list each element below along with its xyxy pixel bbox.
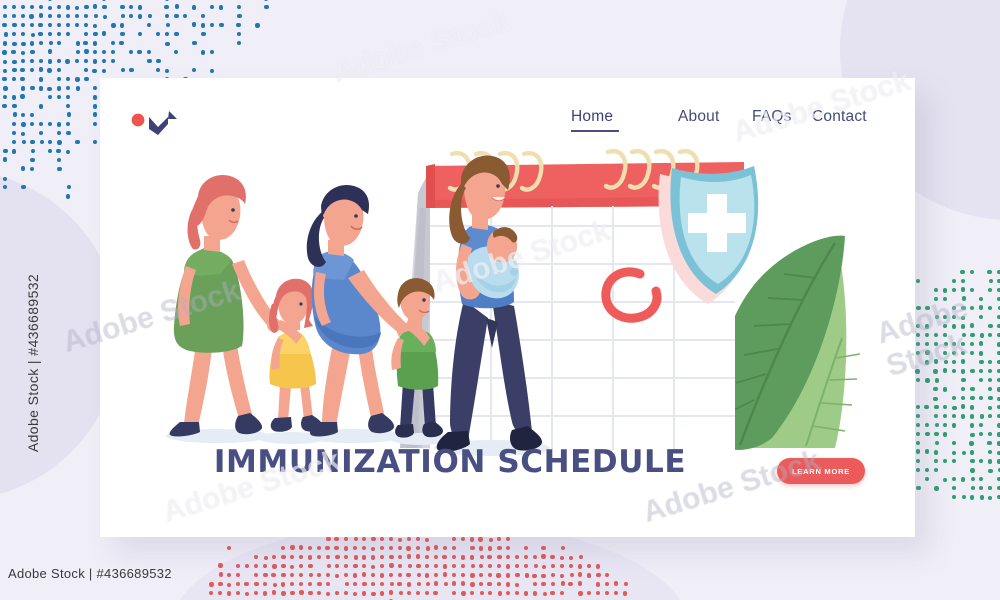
decorative-dot — [933, 397, 937, 401]
decorative-dot — [56, 149, 60, 153]
decorative-dot — [354, 537, 358, 541]
decorative-dot — [970, 433, 974, 437]
decorative-dot — [21, 113, 25, 117]
decorative-dot — [925, 378, 929, 382]
decorative-dot — [308, 564, 312, 568]
decorative-dot — [66, 131, 70, 135]
decorative-dot — [542, 565, 546, 569]
decorative-dot — [952, 414, 956, 418]
decorative-dot — [48, 59, 52, 63]
watermark-bottom-text: Adobe Stock | #436689532 — [8, 566, 172, 581]
decorative-dot — [21, 185, 25, 189]
decorative-dot — [980, 333, 984, 337]
decorative-dot — [979, 351, 983, 355]
decorative-dot — [75, 6, 79, 10]
decorative-dot — [263, 564, 267, 568]
decorative-dot — [916, 378, 920, 382]
decorative-dot — [970, 306, 974, 310]
decorative-dot — [147, 50, 151, 54]
decorative-dot — [299, 545, 303, 549]
decorative-dot — [962, 333, 966, 337]
decorative-dot — [596, 582, 600, 586]
decorative-dot — [317, 591, 321, 595]
decorative-dot — [67, 185, 71, 189]
decorative-dot — [308, 582, 312, 586]
decorative-dot — [470, 573, 474, 577]
decorative-dot — [38, 23, 42, 27]
decorative-dot — [209, 591, 213, 595]
decorative-dot — [264, 0, 268, 1]
decorative-dot — [66, 86, 70, 90]
decorative-dot — [961, 387, 965, 391]
decorative-dot — [84, 68, 88, 72]
decorative-dot — [103, 15, 107, 19]
decorative-dot — [416, 537, 420, 541]
decorative-dot — [569, 556, 573, 560]
decorative-dot — [30, 113, 34, 117]
decorative-dot — [961, 359, 965, 363]
decorative-dot — [578, 564, 582, 568]
decorative-dot — [165, 14, 169, 18]
decorative-dot — [345, 582, 349, 586]
decorative-dot — [515, 591, 519, 595]
decorative-dot — [925, 477, 929, 481]
decorative-dot — [57, 167, 61, 171]
decorative-dot — [442, 555, 446, 559]
decorative-dot — [371, 555, 375, 559]
decorative-dot — [3, 177, 7, 181]
decorative-dot — [308, 591, 312, 595]
decorative-dot — [970, 405, 974, 409]
decorative-dot — [380, 537, 384, 541]
decorative-dot — [290, 582, 294, 586]
decorative-dot — [425, 555, 429, 559]
decorative-dot — [426, 582, 430, 586]
decorative-dot — [12, 42, 16, 46]
decorative-dot — [66, 95, 70, 99]
decorative-dot — [943, 315, 947, 319]
decorative-dot — [138, 5, 142, 9]
decorative-dot — [925, 432, 929, 436]
decorative-dot — [39, 104, 43, 108]
decorative-dot — [916, 432, 920, 436]
decorative-dot — [380, 546, 384, 550]
decorative-dot — [408, 564, 412, 568]
decorative-dot — [47, 68, 51, 72]
decorative-dot — [470, 555, 474, 559]
decorative-dot — [943, 297, 947, 301]
decorative-dot — [970, 369, 974, 373]
decorative-dot — [988, 369, 992, 373]
decorative-dot — [281, 582, 285, 586]
decorative-dot — [970, 270, 974, 274]
nav-item-about[interactable]: About — [678, 108, 720, 126]
decorative-dot — [916, 423, 920, 427]
decorative-dot — [20, 94, 24, 98]
decorative-dot — [120, 23, 124, 27]
decorative-dot — [489, 538, 493, 542]
decorative-dot — [236, 573, 240, 577]
decorative-dot — [970, 414, 974, 418]
brand-logo[interactable] — [128, 108, 184, 142]
shoe-right-icon — [235, 413, 262, 434]
main-navigation: Home About FAQs Contact — [560, 108, 860, 132]
decorative-dot — [934, 459, 938, 463]
decorative-dot — [354, 555, 358, 559]
decorative-dot — [264, 556, 268, 560]
decorative-dot — [578, 572, 582, 576]
decorative-dot — [416, 591, 420, 595]
decorative-dot — [254, 573, 258, 577]
decorative-dot — [934, 359, 938, 363]
decorative-dot — [943, 478, 947, 482]
decorative-dot — [299, 555, 303, 559]
decorative-dot — [398, 538, 402, 542]
decorative-dot — [3, 5, 7, 9]
decorative-dot — [57, 95, 61, 99]
decorative-dot — [952, 441, 956, 445]
shoe-right-icon — [368, 413, 394, 433]
decorative-dot — [934, 297, 938, 301]
decorative-dot — [93, 41, 97, 45]
decorative-dot — [943, 423, 947, 427]
decorative-dot — [979, 360, 983, 364]
decorative-dot — [335, 564, 339, 568]
decorative-dot — [596, 591, 600, 595]
decorative-dot — [944, 342, 948, 346]
decorative-dot — [219, 572, 223, 576]
decorative-dot — [980, 414, 984, 418]
decorative-dot — [943, 459, 947, 463]
decorative-dot — [541, 574, 545, 578]
decorative-dot — [961, 279, 965, 283]
decorative-dot — [75, 23, 79, 27]
decorative-dot — [183, 14, 187, 18]
decorative-dot — [371, 537, 375, 541]
decorative-dot — [93, 4, 97, 8]
decorative-dot — [236, 564, 240, 568]
decorative-dot — [605, 573, 609, 577]
decorative-dot — [174, 14, 178, 18]
decorative-dot — [970, 333, 974, 337]
decorative-dot — [935, 423, 939, 427]
decorative-dot — [93, 50, 97, 54]
decorative-dot — [560, 574, 564, 578]
decorative-dot — [174, 32, 178, 36]
decorative-dot — [299, 590, 303, 594]
decorative-dot — [201, 23, 205, 27]
decorative-dot — [961, 404, 965, 408]
decorative-dot — [3, 185, 7, 189]
decorative-dot — [57, 122, 61, 126]
decorative-dot — [461, 564, 465, 568]
decorative-dot — [561, 581, 565, 585]
decorative-dot — [111, 23, 115, 27]
decorative-dot — [344, 555, 348, 559]
decorative-dot — [362, 546, 366, 550]
decorative-dot — [498, 591, 502, 595]
decorative-dot — [48, 140, 52, 144]
decorative-dot — [66, 5, 70, 9]
decorative-dot — [111, 41, 115, 45]
decorative-dot — [444, 582, 448, 586]
decorative-dot — [218, 591, 222, 595]
decorative-dot — [21, 23, 25, 27]
learn-more-button[interactable]: LEARN MORE — [777, 458, 865, 484]
decorative-dot — [129, 5, 133, 9]
decorative-dot — [407, 591, 411, 595]
decorative-dot — [57, 23, 61, 27]
decorative-dot — [979, 459, 983, 463]
decorative-dot — [916, 333, 920, 337]
decorative-dot — [353, 582, 357, 586]
decorative-dot — [102, 69, 106, 73]
decorative-dot — [934, 288, 938, 292]
mother-green-dress — [170, 175, 281, 436]
decorative-dot — [30, 59, 34, 63]
decorative-dot — [254, 564, 258, 568]
decorative-dot — [362, 564, 366, 568]
decorative-dot — [308, 555, 312, 559]
nav-item-home[interactable]: Home — [571, 108, 613, 126]
decorative-dot — [934, 405, 938, 409]
decorative-dot — [57, 41, 61, 45]
decorative-dot — [389, 563, 393, 567]
decorative-dot — [353, 592, 357, 596]
decorative-dot — [66, 150, 70, 154]
decorative-dot — [57, 131, 61, 135]
decorative-dot — [916, 486, 920, 490]
decorative-dot — [988, 360, 992, 364]
decorative-dot — [264, 5, 268, 9]
shoe-left-icon — [271, 417, 292, 432]
decorative-dot — [57, 32, 61, 36]
decorative-dot — [263, 591, 267, 595]
decorative-dot — [121, 68, 125, 72]
decorative-dot — [970, 351, 974, 355]
decorative-dot — [989, 279, 993, 283]
decorative-dot — [934, 468, 938, 472]
decorative-dot — [93, 32, 97, 36]
decorative-dot — [979, 477, 983, 481]
decorative-dot — [3, 86, 7, 90]
decorative-dot — [66, 104, 70, 108]
decorative-dot — [952, 396, 956, 400]
decorative-dot — [65, 59, 69, 63]
decorative-dot — [147, 59, 151, 63]
decorative-dot — [76, 41, 80, 45]
decorative-dot — [210, 5, 214, 9]
decorative-dot — [997, 387, 1000, 391]
decorative-dot — [488, 564, 492, 568]
decorative-dot — [925, 342, 929, 346]
decorative-dot — [236, 23, 240, 27]
decorative-dot — [66, 122, 70, 126]
decorative-dot — [327, 564, 331, 568]
decorative-dot — [83, 41, 87, 45]
decorative-dot — [22, 140, 26, 144]
decorative-dot — [192, 5, 196, 9]
decorative-dot — [272, 564, 276, 568]
decorative-dot — [290, 545, 294, 549]
decorative-dot — [57, 140, 61, 144]
decorative-dot — [560, 556, 564, 560]
decorative-dot — [47, 87, 51, 91]
decorative-dot — [66, 32, 70, 36]
decorative-dot — [102, 5, 106, 9]
decorative-dot — [389, 537, 393, 541]
decorative-dot — [147, 23, 151, 27]
decorative-dot — [362, 591, 366, 595]
decorative-dot — [12, 131, 16, 135]
decorative-dot — [497, 564, 501, 568]
decorative-dot — [166, 23, 170, 27]
decorative-dot — [935, 441, 939, 445]
decorative-dot — [93, 95, 97, 99]
decorative-dot — [148, 14, 152, 18]
learn-more-label: LEARN MORE — [792, 467, 850, 476]
decorative-dot — [326, 537, 330, 541]
decorative-dot — [434, 545, 438, 549]
decorative-dot — [299, 582, 303, 586]
decorative-dot — [93, 59, 97, 63]
decorative-dot — [524, 564, 528, 568]
decorative-dot — [997, 288, 1000, 292]
decorative-dot — [596, 573, 600, 577]
decorative-dot — [406, 546, 410, 550]
decorative-dot — [263, 573, 267, 577]
decorative-dot — [272, 590, 276, 594]
decorative-dot — [506, 564, 510, 568]
decorative-dot — [12, 140, 16, 144]
decorative-dot — [916, 441, 920, 445]
decorative-dot — [916, 449, 920, 453]
decorative-dot — [461, 591, 465, 595]
decorative-dot — [67, 112, 71, 116]
decorative-dot — [326, 592, 330, 596]
decorative-dot — [916, 342, 920, 346]
decorative-dot — [48, 14, 52, 18]
decorative-dot — [515, 555, 519, 559]
decorative-dot — [961, 477, 965, 481]
decorative-dot — [587, 564, 591, 568]
decorative-dot — [970, 387, 974, 391]
decorative-dot — [210, 69, 214, 73]
decorative-dot — [371, 573, 375, 577]
decorative-dot — [399, 591, 403, 595]
decorative-dot — [317, 573, 321, 577]
decorative-dot — [120, 32, 124, 36]
decorative-dot — [488, 591, 492, 595]
decorative-dot — [398, 546, 402, 550]
decorative-dot — [30, 122, 34, 126]
decorative-dot — [57, 68, 61, 72]
decorative-dot — [57, 5, 61, 9]
decorative-dot — [156, 59, 160, 63]
decorative-dot — [281, 555, 285, 559]
decorative-dot — [66, 194, 70, 198]
decorative-dot — [461, 573, 465, 577]
brand-logo-icon — [128, 108, 184, 142]
decorative-dot — [943, 368, 947, 372]
decorative-dot — [623, 591, 627, 595]
decorative-dot — [933, 369, 937, 373]
decorative-dot — [39, 41, 43, 45]
decorative-dot — [299, 573, 303, 577]
decorative-dot — [587, 573, 591, 577]
decorative-dot — [407, 537, 411, 541]
decorative-dot — [48, 122, 52, 126]
decorative-dot — [227, 591, 231, 595]
decorative-dot — [979, 305, 983, 309]
decorative-dot — [452, 573, 456, 577]
decorative-dot — [987, 441, 991, 445]
decorative-dot — [218, 582, 222, 586]
decorative-dot — [988, 288, 992, 292]
decorative-dot — [271, 573, 275, 577]
decorative-dot — [988, 333, 992, 337]
decorative-dot — [960, 270, 964, 274]
decorative-dot — [30, 50, 34, 54]
decorative-dot — [12, 77, 16, 81]
decorative-dot — [281, 573, 285, 577]
decorative-dot — [30, 41, 34, 45]
decorative-dot — [57, 158, 61, 162]
decorative-dot — [192, 41, 196, 45]
decorative-dot — [362, 555, 366, 559]
decorative-dot — [561, 546, 565, 550]
decorative-dot — [952, 351, 956, 355]
decorative-dot — [560, 564, 564, 568]
decorative-dot — [389, 546, 393, 550]
decorative-dot — [943, 324, 947, 328]
decorative-dot — [980, 495, 984, 499]
decorative-dot — [334, 537, 338, 541]
decorative-dot — [30, 86, 34, 90]
decorative-dot — [48, 23, 52, 27]
decorative-dot — [102, 31, 106, 35]
decorative-dot — [541, 554, 545, 558]
decorative-dot — [12, 60, 16, 64]
decorative-dot — [988, 469, 992, 473]
decorative-dot — [952, 360, 956, 364]
decorative-dot — [496, 573, 500, 577]
decorative-dot — [39, 77, 43, 81]
landing-page-card: Home About FAQs Contact — [100, 78, 915, 537]
decorative-dot — [944, 360, 948, 364]
decorative-dot — [952, 324, 956, 328]
decorative-dot — [479, 582, 483, 586]
nav-item-contact[interactable]: Contact — [812, 108, 867, 126]
decorative-dot — [156, 68, 160, 72]
decorative-dot — [970, 288, 974, 292]
decorative-dot — [192, 68, 196, 72]
logo-dot-icon — [132, 114, 145, 127]
nav-item-faqs[interactable]: FAQs — [752, 108, 792, 126]
decorative-dot — [344, 564, 348, 568]
decorative-dot — [111, 59, 115, 63]
decorative-dot — [84, 23, 88, 27]
decorative-dot — [962, 451, 966, 455]
decorative-dot — [353, 573, 357, 577]
decorative-dot — [39, 5, 43, 9]
decorative-dot — [380, 573, 384, 577]
decorative-dot — [84, 14, 88, 18]
decorative-dot — [11, 50, 15, 54]
decorative-dot — [614, 581, 618, 585]
decorative-dot — [3, 14, 7, 18]
decorative-dot — [93, 104, 97, 108]
